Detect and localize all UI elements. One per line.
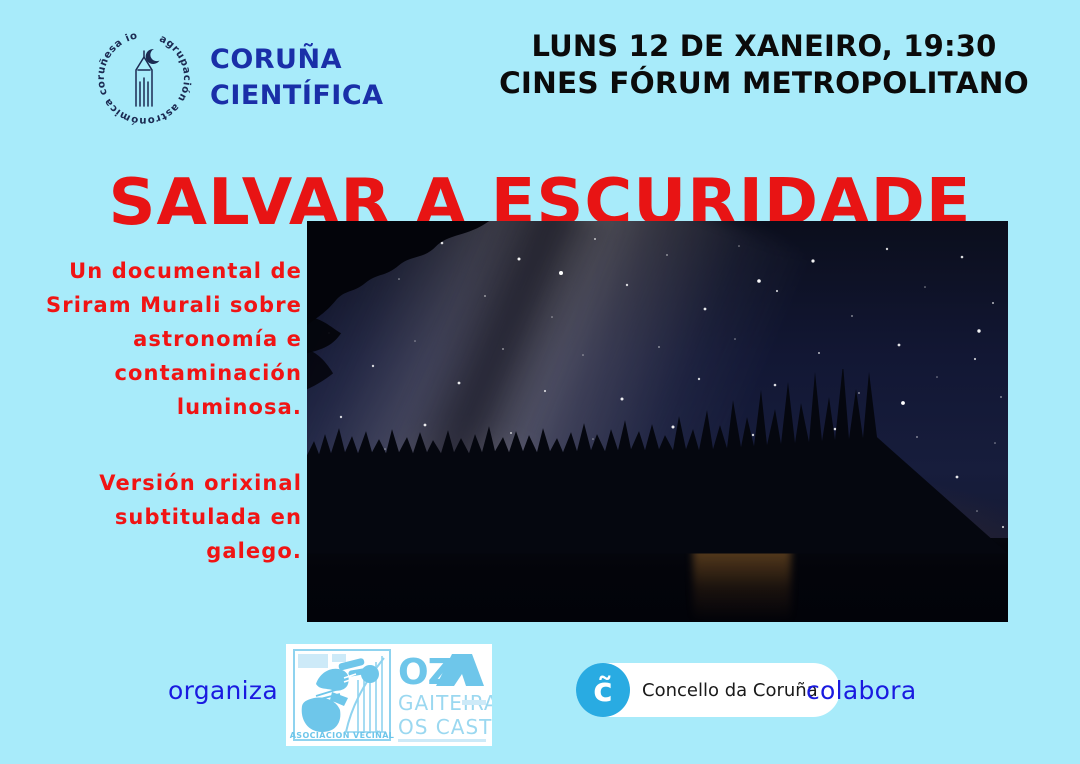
event-date: LUNS 12 DE XANEIRO, 19:30 (494, 28, 1034, 65)
description-text: Un documental de Sriram Murali sobre ast… (30, 254, 302, 568)
svg-text:OS CASTROS: OS CASTROS (398, 715, 492, 739)
hercules-tower-icon: agrupación astronómica coruñesa io (92, 26, 196, 130)
concello-mark-icon: c̃ (576, 663, 630, 717)
event-info: LUNS 12 DE XANEIRO, 19:30 CINES FÓRUM ME… (494, 28, 1034, 103)
concello-name: Concello da Coruña (642, 680, 818, 701)
night-sky-photo (307, 221, 1008, 622)
bagpiper-icon: ASOCIACION VECIÑAL OZ GAITEIRA OS CASTRO… (286, 644, 492, 746)
description-paragraph-2: Versión orixinal subtitulada en galego. (30, 466, 302, 568)
collaborator-logo-concello: c̃ Concello da Coruña (576, 663, 840, 717)
svg-text:ASOCIACION VECIÑAL: ASOCIACION VECIÑAL (290, 730, 395, 740)
foreground-branch-silhouette (307, 221, 489, 413)
description-paragraph-1: Un documental de Sriram Murali sobre ast… (30, 254, 302, 424)
event-venue: CINES FÓRUM METROPOLITANO (494, 65, 1034, 103)
poster-canvas: agrupación astronómica coruñesa io CORUÑ… (0, 0, 1080, 764)
colabora-label: colabora (806, 676, 916, 705)
organizer-logo-oza: ASOCIACION VECIÑAL OZ GAITEIRA OS CASTRO… (286, 644, 492, 746)
concello-mark-letter: c̃ (593, 673, 613, 706)
lake-light-reflection (693, 546, 791, 622)
organization-brand: agrupación astronómica coruñesa io CORUÑ… (92, 26, 384, 130)
organiza-label: organiza (168, 676, 278, 705)
organization-name: CORUÑA CIENTÍFICA (210, 42, 384, 114)
